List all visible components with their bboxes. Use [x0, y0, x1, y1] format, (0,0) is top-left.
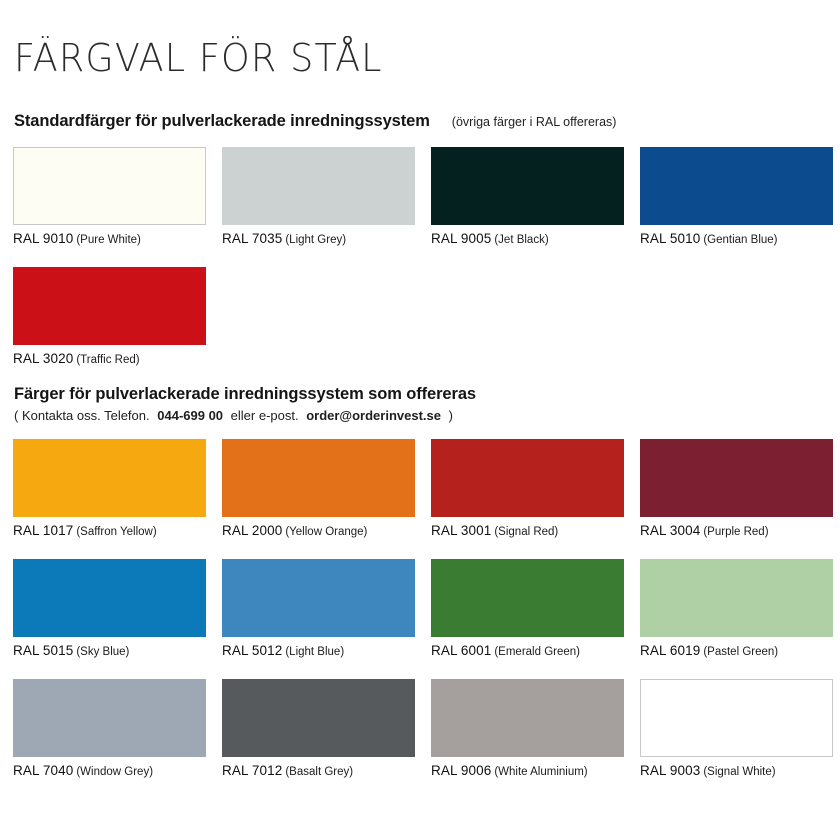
section-standard-title: Standardfärger för pulverlackerade inred… [14, 112, 430, 131]
contact-phone[interactable]: 044-699 00 [157, 408, 223, 423]
section-offered-title: Färger för pulverlackerade inredningssys… [14, 385, 476, 404]
color-swatch[interactable] [222, 439, 415, 517]
swatch-label: RAL 2000(Yellow Orange) [222, 524, 415, 539]
contact-middle-text: eller e-post. [231, 408, 299, 423]
swatch-cell[interactable]: RAL 7040(Window Grey) [13, 679, 206, 779]
swatch-label: RAL 9005(Jet Black) [431, 232, 624, 247]
swatch-label: RAL 5012(Light Blue) [222, 644, 415, 659]
swatch-name: (Yellow Orange) [285, 526, 367, 538]
swatch-name: (White Aluminium) [494, 766, 587, 778]
swatch-label: RAL 3020(Traffic Red) [13, 352, 206, 367]
swatch-cell[interactable]: RAL 2000(Yellow Orange) [222, 439, 415, 539]
swatch-cell[interactable]: RAL 9006(White Aluminium) [431, 679, 624, 779]
swatch-name: (Saffron Yellow) [76, 526, 156, 538]
color-swatch[interactable] [13, 559, 206, 637]
contact-open-text: ( Kontakta oss. Telefon. [14, 408, 150, 423]
color-swatch[interactable] [640, 559, 833, 637]
swatch-name: (Light Grey) [285, 234, 346, 246]
swatch-label: RAL 7035(Light Grey) [222, 232, 415, 247]
color-swatch[interactable] [13, 147, 206, 225]
swatch-label: RAL 3001(Signal Red) [431, 524, 624, 539]
swatch-name: (Traffic Red) [76, 354, 139, 366]
swatch-code: RAL 6001 [431, 643, 491, 658]
swatch-cell[interactable]: RAL 9010(Pure White) [13, 147, 206, 247]
swatch-code: RAL 5010 [640, 231, 700, 246]
swatch-cell[interactable]: RAL 3001(Signal Red) [431, 439, 624, 539]
contact-close-text: ) [449, 408, 453, 423]
section-offered-header: Färger för pulverlackerade inredningssys… [0, 385, 840, 404]
swatch-label: RAL 5010(Gentian Blue) [640, 232, 833, 247]
swatch-code: RAL 7040 [13, 763, 73, 778]
swatch-name: (Signal White) [703, 766, 775, 778]
swatch-name: (Basalt Grey) [285, 766, 353, 778]
swatch-code: RAL 5012 [222, 643, 282, 658]
swatch-code: RAL 7035 [222, 231, 282, 246]
swatch-name: (Purple Red) [703, 526, 768, 538]
swatch-name: (Sky Blue) [76, 646, 129, 658]
swatch-label: RAL 6001(Emerald Green) [431, 644, 624, 659]
swatch-cell[interactable]: RAL 5015(Sky Blue) [13, 559, 206, 659]
swatch-code: RAL 3004 [640, 523, 700, 538]
swatch-code: RAL 1017 [13, 523, 73, 538]
swatch-code: RAL 9003 [640, 763, 700, 778]
swatch-label: RAL 3004(Purple Red) [640, 524, 833, 539]
swatch-cell[interactable]: RAL 6001(Emerald Green) [431, 559, 624, 659]
color-swatch[interactable] [640, 439, 833, 517]
swatch-label: RAL 1017(Saffron Yellow) [13, 524, 206, 539]
swatch-cell[interactable]: RAL 7012(Basalt Grey) [222, 679, 415, 779]
swatch-name: (Gentian Blue) [703, 234, 777, 246]
swatch-cell[interactable]: RAL 3020(Traffic Red) [13, 267, 206, 367]
swatch-cell[interactable]: RAL 9005(Jet Black) [431, 147, 624, 247]
swatch-label: RAL 9003(Signal White) [640, 764, 833, 779]
section-standard-header: Standardfärger för pulverlackerade inred… [0, 112, 840, 131]
swatch-code: RAL 5015 [13, 643, 73, 658]
color-swatch[interactable] [222, 679, 415, 757]
swatch-label: RAL 7040(Window Grey) [13, 764, 206, 779]
color-swatch[interactable] [222, 559, 415, 637]
color-swatch[interactable] [431, 679, 624, 757]
swatch-cell[interactable]: RAL 6019(Pastel Green) [640, 559, 833, 659]
swatch-name: (Jet Black) [494, 234, 548, 246]
contact-email[interactable]: order@orderinvest.se [306, 408, 441, 423]
color-swatch[interactable] [640, 679, 833, 757]
swatch-label: RAL 5015(Sky Blue) [13, 644, 206, 659]
swatch-name: (Signal Red) [494, 526, 558, 538]
color-swatch[interactable] [431, 559, 624, 637]
swatch-grid-standard: RAL 9010(Pure White)RAL 7035(Light Grey)… [0, 147, 840, 387]
contact-line: ( Kontakta oss. Telefon. 044-699 00 elle… [0, 408, 840, 423]
swatch-code: RAL 9010 [13, 231, 73, 246]
swatch-cell[interactable]: RAL 9003(Signal White) [640, 679, 833, 779]
color-chart-page: FÄRGVAL FÖR STÅL Standardfärger för pulv… [0, 0, 840, 840]
swatch-label: RAL 9006(White Aluminium) [431, 764, 624, 779]
section-standard-colors: Standardfärger för pulverlackerade inred… [0, 112, 840, 387]
swatch-code: RAL 9005 [431, 231, 491, 246]
swatch-cell[interactable]: RAL 3004(Purple Red) [640, 439, 833, 539]
swatch-code: RAL 9006 [431, 763, 491, 778]
swatch-label: RAL 9010(Pure White) [13, 232, 206, 247]
swatch-name: (Pure White) [76, 234, 141, 246]
swatch-name: (Emerald Green) [494, 646, 580, 658]
section-standard-note: (övriga färger i RAL offereras) [452, 115, 617, 129]
color-swatch[interactable] [13, 679, 206, 757]
swatch-code: RAL 3001 [431, 523, 491, 538]
swatch-cell[interactable]: RAL 1017(Saffron Yellow) [13, 439, 206, 539]
swatch-code: RAL 6019 [640, 643, 700, 658]
section-offered-colors: Färger för pulverlackerade inredningssys… [0, 385, 840, 799]
swatch-code: RAL 2000 [222, 523, 282, 538]
swatch-name: (Window Grey) [76, 766, 153, 778]
swatch-code: RAL 7012 [222, 763, 282, 778]
swatch-code: RAL 3020 [13, 351, 73, 366]
color-swatch[interactable] [13, 439, 206, 517]
color-swatch[interactable] [431, 147, 624, 225]
color-swatch[interactable] [640, 147, 833, 225]
swatch-name: (Light Blue) [285, 646, 344, 658]
swatch-label: RAL 6019(Pastel Green) [640, 644, 833, 659]
swatch-grid-offered: RAL 1017(Saffron Yellow)RAL 2000(Yellow … [0, 439, 840, 799]
swatch-cell[interactable]: RAL 5010(Gentian Blue) [640, 147, 833, 247]
color-swatch[interactable] [222, 147, 415, 225]
color-swatch[interactable] [431, 439, 624, 517]
swatch-name: (Pastel Green) [703, 646, 778, 658]
color-swatch[interactable] [13, 267, 206, 345]
page-title: FÄRGVAL FÖR STÅL [14, 36, 383, 80]
swatch-cell[interactable]: RAL 5012(Light Blue) [222, 559, 415, 659]
swatch-label: RAL 7012(Basalt Grey) [222, 764, 415, 779]
swatch-cell[interactable]: RAL 7035(Light Grey) [222, 147, 415, 247]
